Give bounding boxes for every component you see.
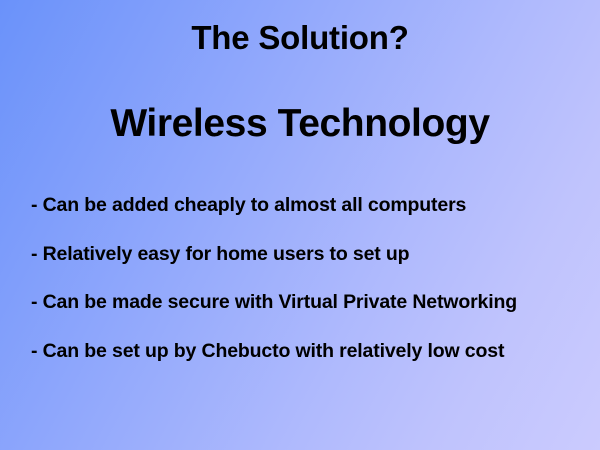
page-title: The Solution? (0, 20, 600, 56)
list-item: - Relatively easy for home users to set … (31, 245, 586, 294)
bullet-text: Can be made secure with Virtual Private … (43, 291, 517, 313)
bullet-dash-marker: - (31, 194, 37, 216)
list-item: - Can be set up by Chebucto with relativ… (31, 342, 586, 391)
bullet-text: Can be added cheaply to almost all compu… (43, 194, 467, 216)
bullet-text: Relatively easy for home users to set up (43, 243, 410, 265)
list-item: - Can be added cheaply to almost all com… (31, 196, 586, 245)
bullet-dash-marker: - (31, 243, 37, 265)
list-item: - Can be made secure with Virtual Privat… (31, 293, 586, 342)
bullet-text: Can be set up by Chebucto with relativel… (43, 340, 505, 362)
bullet-dash-marker: - (31, 291, 37, 313)
bullet-dash-marker: - (31, 340, 37, 362)
slide-subtitle: Wireless Technology (0, 103, 600, 146)
presentation-slide: The Solution? Wireless Technology - Can … (0, 0, 600, 450)
bullet-list: - Can be added cheaply to almost all com… (31, 196, 586, 390)
